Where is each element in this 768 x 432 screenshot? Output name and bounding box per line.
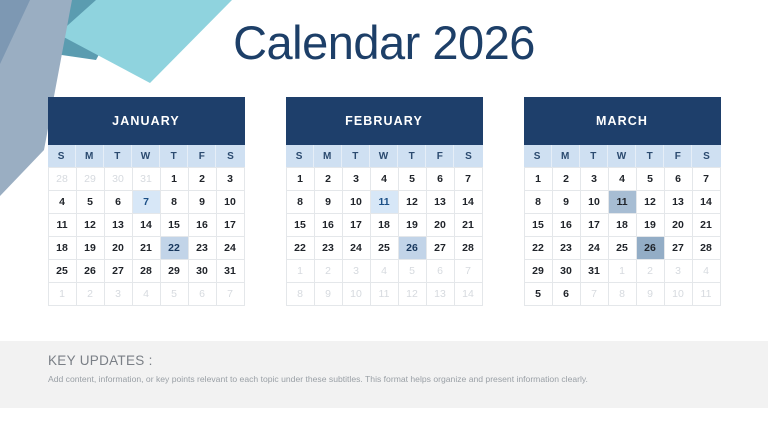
day-cell[interactable]: 27 [427, 237, 455, 260]
weekday-label: F [664, 145, 692, 167]
day-cell[interactable]: 11 [371, 191, 399, 214]
day-cell[interactable]: 14 [455, 191, 483, 214]
weekday-label: S [216, 145, 244, 167]
weekday-label: S [692, 145, 720, 167]
day-cell[interactable]: 9 [553, 191, 581, 214]
weekday-label: T [636, 145, 664, 167]
day-cell[interactable]: 12 [637, 191, 665, 214]
day-cell[interactable]: 16 [553, 214, 581, 237]
day-cell[interactable]: 14 [455, 283, 483, 306]
weekday-label: S [48, 145, 76, 167]
day-cell[interactable]: 6 [189, 283, 217, 306]
day-cell[interactable]: 26 [77, 260, 105, 283]
weekday-label: S [286, 145, 314, 167]
day-cell[interactable]: 28 [455, 237, 483, 260]
day-cell[interactable]: 10 [217, 191, 245, 214]
weekday-label: T [398, 145, 426, 167]
day-cell[interactable]: 23 [315, 237, 343, 260]
weekday-label: T [104, 145, 132, 167]
day-cell[interactable]: 10 [665, 283, 693, 306]
day-cell[interactable]: 16 [315, 214, 343, 237]
day-cell[interactable]: 19 [399, 214, 427, 237]
day-cell[interactable]: 27 [665, 237, 693, 260]
day-cell[interactable]: 17 [217, 214, 245, 237]
weekday-label: T [580, 145, 608, 167]
day-cell[interactable]: 7 [455, 168, 483, 191]
day-cell[interactable]: 6 [665, 168, 693, 191]
day-cell[interactable]: 24 [343, 237, 371, 260]
day-cell[interactable]: 15 [525, 214, 553, 237]
day-cell[interactable]: 7 [133, 191, 161, 214]
day-cell[interactable]: 17 [343, 214, 371, 237]
day-cell[interactable]: 8 [161, 191, 189, 214]
day-cell[interactable]: 28 [133, 260, 161, 283]
day-cell[interactable]: 30 [105, 168, 133, 191]
day-cell[interactable]: 20 [105, 237, 133, 260]
day-cell[interactable]: 13 [427, 283, 455, 306]
day-cell[interactable]: 14 [693, 191, 721, 214]
day-cell[interactable]: 22 [287, 237, 315, 260]
day-cell[interactable]: 24 [217, 237, 245, 260]
day-cell[interactable]: 15 [161, 214, 189, 237]
day-cell[interactable]: 2 [637, 260, 665, 283]
weekday-label: W [132, 145, 160, 167]
day-cell[interactable]: 28 [49, 168, 77, 191]
day-cell[interactable]: 8 [609, 283, 637, 306]
day-cell[interactable]: 29 [77, 168, 105, 191]
day-cell[interactable]: 18 [371, 214, 399, 237]
day-cell[interactable]: 26 [637, 237, 665, 260]
day-cell[interactable]: 9 [637, 283, 665, 306]
weekday-label: W [608, 145, 636, 167]
day-cell[interactable]: 25 [371, 237, 399, 260]
day-cell[interactable]: 5 [77, 191, 105, 214]
day-cell[interactable]: 15 [287, 214, 315, 237]
day-cell[interactable]: 6 [553, 283, 581, 306]
day-cell[interactable]: 22 [161, 237, 189, 260]
day-cell[interactable]: 19 [637, 214, 665, 237]
day-cell[interactable]: 24 [581, 237, 609, 260]
day-grid-january: 2829303112345678910111213141516171819202… [48, 167, 245, 306]
day-cell[interactable]: 3 [217, 168, 245, 191]
key-updates-title: KEY UPDATES : [48, 353, 768, 368]
day-cell[interactable]: 5 [399, 168, 427, 191]
day-cell[interactable]: 21 [693, 214, 721, 237]
weekday-header-january: S M T W T F S [48, 145, 245, 167]
key-updates-band: KEY UPDATES : Add content, information, … [0, 341, 768, 408]
month-header-february: FEBRUARY [286, 97, 483, 145]
weekday-label: M [552, 145, 580, 167]
day-cell[interactable]: 25 [49, 260, 77, 283]
day-cell[interactable]: 3 [665, 260, 693, 283]
day-cell[interactable]: 10 [343, 191, 371, 214]
day-cell[interactable]: 25 [609, 237, 637, 260]
day-cell[interactable]: 4 [133, 283, 161, 306]
day-cell[interactable]: 2 [315, 260, 343, 283]
day-cell[interactable]: 11 [371, 283, 399, 306]
day-cell[interactable]: 7 [455, 260, 483, 283]
day-cell[interactable]: 9 [189, 191, 217, 214]
calendar-card-january: JANUARY S M T W T F S 282930311234567891… [48, 97, 245, 306]
day-cell[interactable]: 3 [343, 260, 371, 283]
weekday-label: W [370, 145, 398, 167]
day-cell[interactable]: 30 [553, 260, 581, 283]
day-cell[interactable]: 2 [77, 283, 105, 306]
day-cell[interactable]: 20 [665, 214, 693, 237]
day-cell[interactable]: 12 [399, 191, 427, 214]
day-cell[interactable]: 4 [371, 260, 399, 283]
day-cell[interactable]: 13 [427, 191, 455, 214]
day-grid-march: 1234567891011121314151617181920212223242… [524, 167, 721, 306]
month-header-january: JANUARY [48, 97, 245, 145]
day-cell[interactable]: 1 [609, 260, 637, 283]
day-cell[interactable]: 3 [343, 168, 371, 191]
day-cell[interactable]: 5 [399, 260, 427, 283]
day-cell[interactable]: 6 [427, 260, 455, 283]
day-cell[interactable]: 5 [161, 283, 189, 306]
day-cell[interactable]: 13 [105, 214, 133, 237]
weekday-label: T [342, 145, 370, 167]
weekday-label: F [426, 145, 454, 167]
day-cell[interactable]: 1 [287, 260, 315, 283]
weekday-header-february: S M T W T F S [286, 145, 483, 167]
day-cell[interactable]: 4 [609, 168, 637, 191]
day-cell[interactable]: 16 [189, 214, 217, 237]
calendar-row: JANUARY S M T W T F S 282930311234567891… [0, 97, 768, 306]
weekday-label: T [160, 145, 188, 167]
day-cell[interactable]: 28 [693, 237, 721, 260]
day-cell[interactable]: 2 [553, 168, 581, 191]
weekday-label: M [314, 145, 342, 167]
day-cell[interactable]: 10 [581, 191, 609, 214]
day-cell[interactable]: 12 [77, 214, 105, 237]
day-cell[interactable]: 18 [609, 214, 637, 237]
day-cell[interactable]: 6 [105, 191, 133, 214]
day-cell[interactable]: 5 [525, 283, 553, 306]
weekday-header-march: S M T W T F S [524, 145, 721, 167]
day-cell[interactable]: 9 [315, 191, 343, 214]
weekday-label: M [76, 145, 104, 167]
day-cell[interactable]: 10 [343, 283, 371, 306]
day-cell[interactable]: 7 [217, 283, 245, 306]
day-cell[interactable]: 18 [49, 237, 77, 260]
weekday-label: S [524, 145, 552, 167]
day-cell[interactable]: 31 [581, 260, 609, 283]
day-cell[interactable]: 1 [49, 283, 77, 306]
day-cell[interactable]: 6 [427, 168, 455, 191]
day-cell[interactable]: 7 [581, 283, 609, 306]
month-header-march: MARCH [524, 97, 721, 145]
day-cell[interactable]: 31 [217, 260, 245, 283]
day-cell[interactable]: 7 [693, 168, 721, 191]
page-title: Calendar 2026 [0, 14, 768, 72]
day-cell[interactable]: 17 [581, 214, 609, 237]
day-cell[interactable]: 1 [525, 168, 553, 191]
day-cell[interactable]: 14 [133, 214, 161, 237]
day-cell[interactable]: 31 [133, 168, 161, 191]
day-cell[interactable]: 1 [161, 168, 189, 191]
day-cell[interactable]: 11 [49, 214, 77, 237]
day-cell[interactable]: 11 [609, 191, 637, 214]
day-cell[interactable]: 21 [133, 237, 161, 260]
calendar-card-march: MARCH S M T W T F S 12345678910111213141… [524, 97, 721, 306]
day-cell[interactable]: 8 [287, 191, 315, 214]
calendar-card-february: FEBRUARY S M T W T F S 12345678910111213… [286, 97, 483, 306]
day-cell[interactable]: 11 [693, 283, 721, 306]
day-cell[interactable]: 29 [161, 260, 189, 283]
day-cell[interactable]: 2 [315, 168, 343, 191]
day-cell[interactable]: 27 [105, 260, 133, 283]
day-cell[interactable]: 21 [455, 214, 483, 237]
day-cell[interactable]: 9 [315, 283, 343, 306]
day-cell[interactable]: 1 [287, 168, 315, 191]
day-cell[interactable]: 30 [189, 260, 217, 283]
weekday-label: S [454, 145, 482, 167]
day-cell[interactable]: 3 [105, 283, 133, 306]
day-cell[interactable]: 13 [665, 191, 693, 214]
day-cell[interactable]: 3 [581, 168, 609, 191]
day-cell[interactable]: 23 [189, 237, 217, 260]
day-cell[interactable]: 22 [525, 237, 553, 260]
weekday-label: F [188, 145, 216, 167]
day-cell[interactable]: 12 [399, 283, 427, 306]
day-cell[interactable]: 20 [427, 214, 455, 237]
day-cell[interactable]: 26 [399, 237, 427, 260]
day-cell[interactable]: 5 [637, 168, 665, 191]
day-cell[interactable]: 8 [525, 191, 553, 214]
day-cell[interactable]: 4 [49, 191, 77, 214]
day-cell[interactable]: 29 [525, 260, 553, 283]
day-cell[interactable]: 19 [77, 237, 105, 260]
day-cell[interactable]: 4 [371, 168, 399, 191]
day-cell[interactable]: 4 [693, 260, 721, 283]
day-grid-february: 1234567891011121314151617181920212223242… [286, 167, 483, 306]
day-cell[interactable]: 8 [287, 283, 315, 306]
day-cell[interactable]: 2 [189, 168, 217, 191]
key-updates-body: Add content, information, or key points … [48, 373, 648, 385]
day-cell[interactable]: 23 [553, 237, 581, 260]
